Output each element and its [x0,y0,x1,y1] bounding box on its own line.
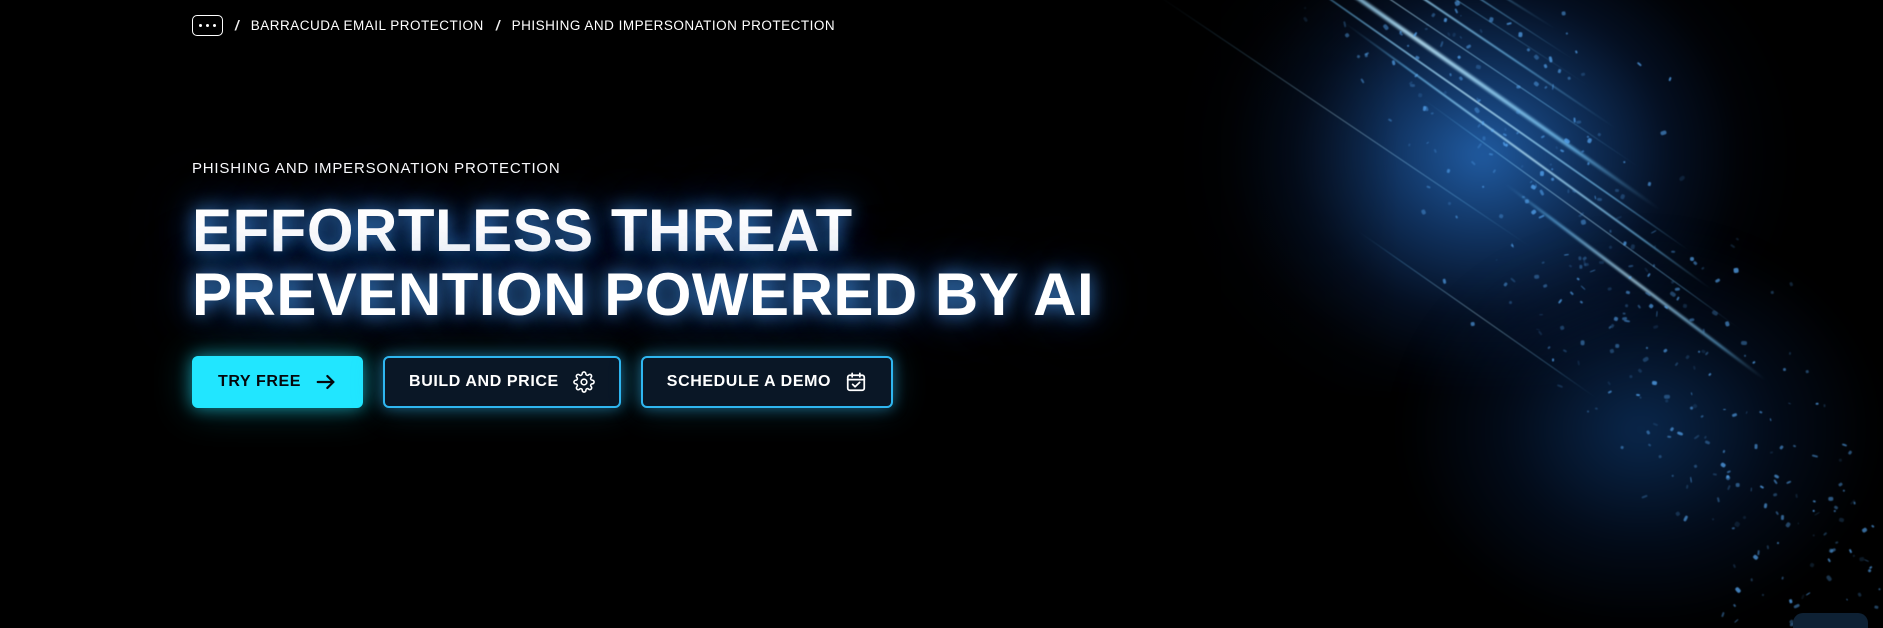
schedule-a-demo-button[interactable]: SCHEDULE A DEMO [641,356,893,408]
ellipsis-dot [213,24,217,28]
hero-eyebrow: PHISHING AND IMPERSONATION PROTECTION [192,160,1292,177]
ellipsis-icon[interactable] [192,15,223,36]
try-free-label: TRY FREE [218,373,301,391]
chat-widget-stub[interactable] [1793,613,1868,628]
headline-line-1: EFFORTLESS THREAT [192,199,1292,263]
breadcrumb: / BARRACUDA EMAIL PROTECTION / PHISHING … [192,15,835,36]
background-glow-mid [1300,180,1883,628]
arrow-right-icon [315,371,337,393]
schedule-a-demo-label: SCHEDULE A DEMO [667,373,831,391]
build-and-price-label: BUILD AND PRICE [409,373,559,391]
hero-section: / BARRACUDA EMAIL PROTECTION / PHISHING … [0,0,1883,628]
cta-button-row: TRY FREE BUILD AND PRICE [192,356,1292,408]
ellipsis-dot [206,24,210,28]
headline-line-2: PREVENTION POWERED BY AI [192,263,1292,327]
ellipsis-dot [199,24,203,28]
try-free-button[interactable]: TRY FREE [192,356,363,408]
calendar-check-icon [845,371,867,393]
hero-content: PHISHING AND IMPERSONATION PROTECTION EF… [192,160,1292,408]
breadcrumb-item-current: PHISHING AND IMPERSONATION PROTECTION [512,18,836,33]
breadcrumb-separator: / [235,18,239,33]
build-and-price-button[interactable]: BUILD AND PRICE [383,356,621,408]
page-title: EFFORTLESS THREAT PREVENTION POWERED BY … [192,199,1292,326]
breadcrumb-separator: / [496,18,500,33]
breadcrumb-item-barracuda-email-protection[interactable]: BARRACUDA EMAIL PROTECTION [251,18,484,33]
gear-icon [573,371,595,393]
